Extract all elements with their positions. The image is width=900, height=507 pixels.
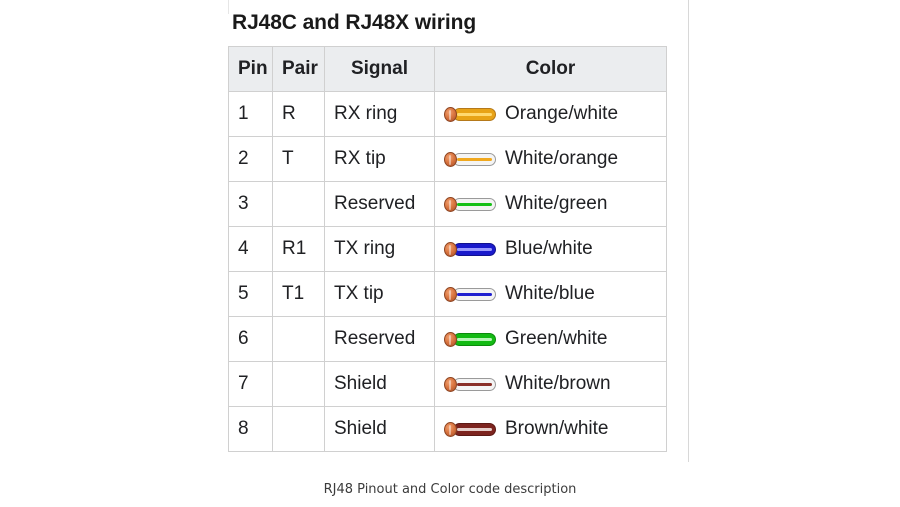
cell-signal: Shield [325, 407, 435, 452]
color-label: White/orange [505, 148, 618, 170]
cell-color: Orange/white [435, 92, 667, 137]
color-label: Brown/white [505, 418, 609, 440]
color-label: White/green [505, 193, 607, 215]
cell-signal: RX ring [325, 92, 435, 137]
right-divider-rule [688, 0, 689, 462]
color-cell-inner: Orange/white [444, 103, 657, 125]
color-label: Green/white [505, 328, 607, 350]
cell-pair [273, 362, 325, 407]
cell-color: Green/white [435, 317, 667, 362]
wire-stripe [457, 338, 492, 341]
wire-copper-tip-icon [444, 377, 457, 392]
table-row: 5T1TX tipWhite/blue [229, 272, 667, 317]
wire-icon-brown-white [444, 422, 496, 437]
cell-pin: 7 [229, 362, 273, 407]
color-label: White/brown [505, 373, 611, 395]
wire-icon-white-blue [444, 287, 496, 302]
cell-pair: T [273, 137, 325, 182]
wire-copper-tip-icon [444, 287, 457, 302]
cell-pin: 6 [229, 317, 273, 362]
table-row: 7ShieldWhite/brown [229, 362, 667, 407]
column-header-signal: Signal [325, 47, 435, 92]
wire-icon-white-brown [444, 377, 496, 392]
cell-pair: R [273, 92, 325, 137]
wire-stripe [457, 383, 492, 386]
cell-pin: 5 [229, 272, 273, 317]
cell-signal: TX tip [325, 272, 435, 317]
cell-pair: T1 [273, 272, 325, 317]
table-row: 4R1TX ringBlue/white [229, 227, 667, 272]
cell-pin: 2 [229, 137, 273, 182]
wire-icon-white-orange [444, 152, 496, 167]
page-title: RJ48C and RJ48X wiring [228, 10, 666, 46]
wire-icon-orange-white [444, 107, 496, 122]
cell-pair [273, 182, 325, 227]
wire-stripe [457, 248, 492, 251]
wire-copper-tip-icon [444, 422, 457, 437]
column-header-color: Color [435, 47, 667, 92]
cell-color: Brown/white [435, 407, 667, 452]
cell-pair: R1 [273, 227, 325, 272]
wire-stripe [457, 158, 492, 161]
color-cell-inner: White/blue [444, 283, 657, 305]
figure-canvas: RJ48C and RJ48X wiring Pin Pair Signal C… [0, 0, 900, 507]
figure-caption: RJ48 Pinout and Color code description [0, 482, 900, 497]
cell-pin: 1 [229, 92, 273, 137]
cell-pair [273, 407, 325, 452]
table-row: 3ReservedWhite/green [229, 182, 667, 227]
column-header-pin: Pin [229, 47, 273, 92]
cell-signal: Reserved [325, 317, 435, 362]
wire-copper-tip-icon [444, 332, 457, 347]
table-row: 6ReservedGreen/white [229, 317, 667, 362]
wire-copper-tip-icon [444, 152, 457, 167]
table-row: 8ShieldBrown/white [229, 407, 667, 452]
color-cell-inner: Brown/white [444, 418, 657, 440]
color-cell-inner: Blue/white [444, 238, 657, 260]
table-header-row: Pin Pair Signal Color [229, 47, 667, 92]
color-cell-inner: Green/white [444, 328, 657, 350]
wire-icon-white-green [444, 197, 496, 212]
table-body: 1RRX ringOrange/white2TRX tipWhite/orang… [229, 92, 667, 452]
column-header-pair: Pair [273, 47, 325, 92]
color-label: White/blue [505, 283, 595, 305]
color-label: Orange/white [505, 103, 618, 125]
cell-pin: 3 [229, 182, 273, 227]
color-cell-inner: White/brown [444, 373, 657, 395]
cell-signal: RX tip [325, 137, 435, 182]
cell-pair [273, 317, 325, 362]
wire-copper-tip-icon [444, 242, 457, 257]
wire-icon-green-white [444, 332, 496, 347]
cell-color: White/green [435, 182, 667, 227]
cell-signal: Shield [325, 362, 435, 407]
cell-color: Blue/white [435, 227, 667, 272]
cell-signal: Reserved [325, 182, 435, 227]
color-cell-inner: White/green [444, 193, 657, 215]
table-row: 2TRX tipWhite/orange [229, 137, 667, 182]
wire-stripe [457, 293, 492, 296]
wire-stripe [457, 203, 492, 206]
cell-color: White/blue [435, 272, 667, 317]
cell-pin: 8 [229, 407, 273, 452]
wiring-figure: RJ48C and RJ48X wiring Pin Pair Signal C… [228, 10, 666, 452]
color-cell-inner: White/orange [444, 148, 657, 170]
color-label: Blue/white [505, 238, 593, 260]
wire-stripe [457, 428, 492, 431]
cell-pin: 4 [229, 227, 273, 272]
cell-color: White/orange [435, 137, 667, 182]
wire-icon-blue-white [444, 242, 496, 257]
cell-color: White/brown [435, 362, 667, 407]
wire-copper-tip-icon [444, 107, 457, 122]
table-row: 1RRX ringOrange/white [229, 92, 667, 137]
cell-signal: TX ring [325, 227, 435, 272]
wire-copper-tip-icon [444, 197, 457, 212]
rj48-wiring-table: Pin Pair Signal Color 1RRX ringOrange/wh… [228, 46, 667, 452]
wire-stripe [457, 113, 492, 116]
